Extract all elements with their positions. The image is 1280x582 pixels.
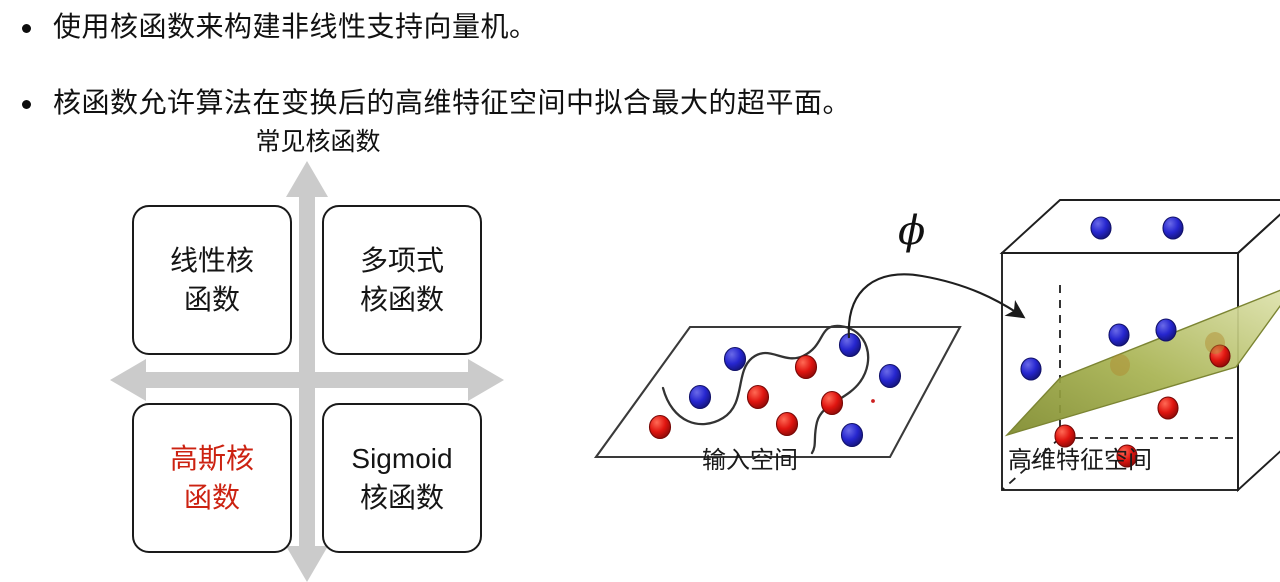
kernel-box-sigmoid[interactable]: Sigmoid 核函数 bbox=[322, 403, 482, 553]
kernel-box-linear[interactable]: 线性核 函数 bbox=[132, 205, 292, 355]
kernel-box-line1: 高斯核 bbox=[170, 439, 254, 478]
kernel-box-line1: 线性核 bbox=[170, 241, 254, 280]
kernel-box-line1: Sigmoid bbox=[351, 439, 452, 478]
kernel-box-line2: 核函数 bbox=[360, 280, 444, 319]
input-space-plane bbox=[596, 326, 960, 457]
bullet-dot-icon bbox=[22, 24, 31, 33]
kernel-mapping-illustration: ϕ 输入空间 高维特征空间 bbox=[560, 160, 1280, 510]
kernel-box-polynomial[interactable]: 多项式 核函数 bbox=[322, 205, 482, 355]
kernel-box-line2: 函数 bbox=[184, 280, 240, 319]
bullet-text: 核函数允许算法在变换后的高维特征空间中拟合最大的超平面。 bbox=[53, 84, 851, 122]
kernel-box-line1: 多项式 bbox=[360, 241, 444, 280]
feature-space-label: 高维特征空间 bbox=[930, 446, 1230, 476]
bullet-list: 使用核函数来构建非线性支持向量机。 核函数允许算法在变换后的高维特征空间中拟合最… bbox=[0, 0, 1010, 76]
slide-canvas: 使用核函数来构建非线性支持向量机。 核函数允许算法在变换后的高维特征空间中拟合最… bbox=[0, 0, 1280, 582]
kernel-box-gaussian[interactable]: 高斯核 函数 bbox=[132, 403, 292, 553]
list-item: 核函数允许算法在变换后的高维特征空间中拟合最大的超平面。 bbox=[0, 84, 1010, 122]
kernel-box-line2: 函数 bbox=[184, 478, 240, 517]
kernel-box-line2: 核函数 bbox=[360, 478, 444, 517]
marker-dot bbox=[871, 399, 875, 403]
bullet-dot-icon bbox=[22, 100, 31, 109]
phi-symbol: ϕ bbox=[898, 208, 925, 254]
bullet-text: 使用核函数来构建非线性支持向量机。 bbox=[53, 8, 538, 46]
input-space-label: 输入空间 bbox=[600, 446, 900, 476]
kernel-quadrant-diagram: 常见核函数 线性核 函数 多项式 核函数 高斯核 函数 bbox=[108, 125, 528, 582]
list-item: 使用核函数来构建非线性支持向量机。 bbox=[0, 8, 1010, 46]
